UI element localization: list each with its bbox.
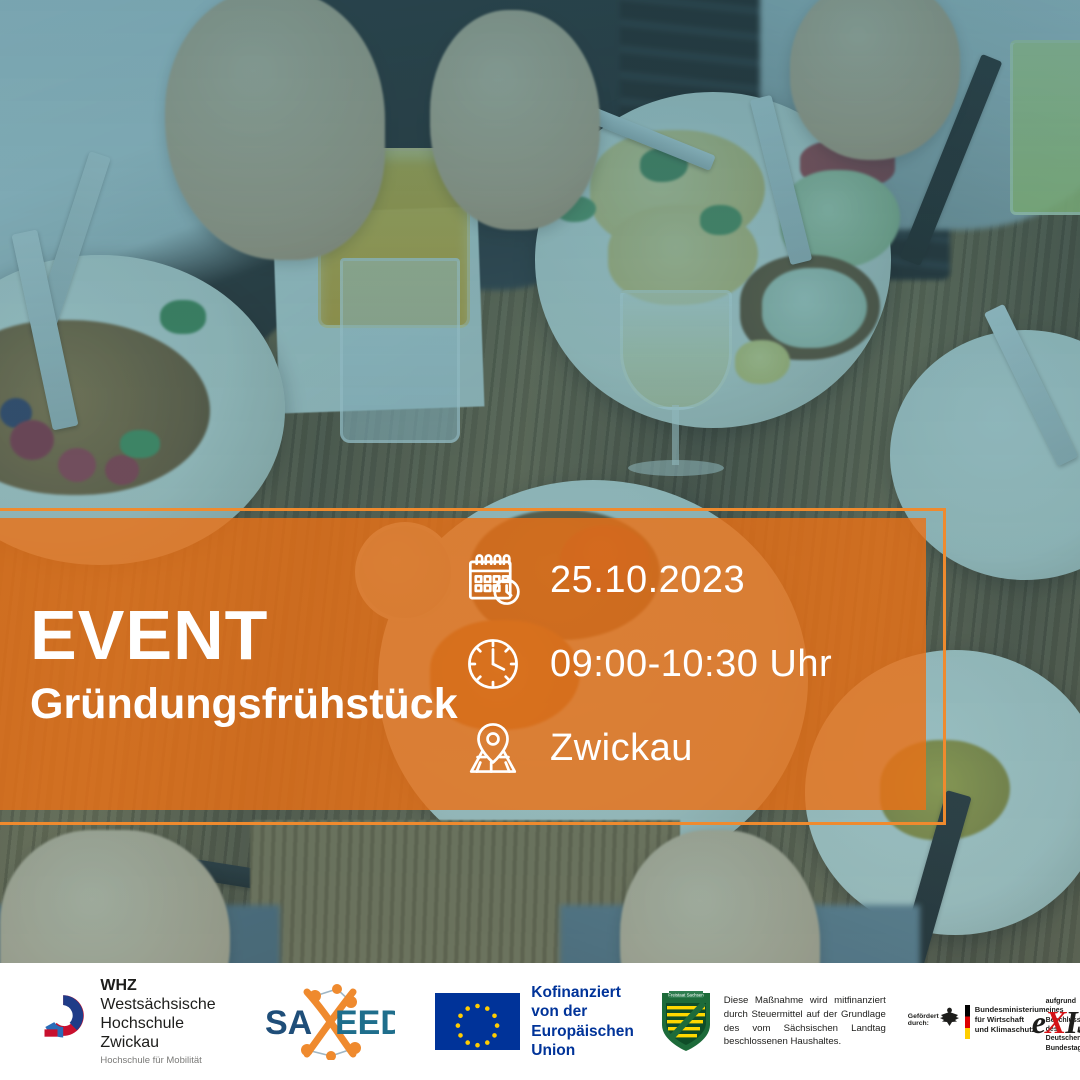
exist-letters-ist: IST — [1065, 1004, 1080, 1040]
logo-freistaat-sachsen: Freistaat Sachsen Diese Maßnahme wird mi… — [660, 991, 886, 1053]
clock-icon — [462, 633, 524, 695]
sachsen-funding-text: Diese Maßnahme wird mitfinanziert durch … — [724, 994, 886, 1050]
logo-european-union: Kofinanziert von der Europäischen Union — [435, 983, 634, 1061]
event-date-value: 25.10.2023 — [550, 559, 745, 602]
eu-line1: Kofinanziert von der — [531, 984, 621, 1020]
event-time-value: 09:00-10:30 Uhr — [550, 643, 832, 686]
whz-line1: WHZ Westsächsische — [100, 977, 215, 1013]
event-detail-date: 25.10.2023 — [462, 549, 936, 611]
saxeed-text-sa: SA — [265, 1004, 312, 1042]
event-poster: EVENT Gründungsfrühstück — [0, 0, 1080, 1080]
eu-flag-icon — [435, 993, 520, 1050]
event-detail-time: 09:00-10:30 Uhr — [462, 633, 936, 695]
event-details-list: 25.10.2023 — [450, 549, 936, 779]
whz-tagline: Hochschule für Mobilität — [100, 1055, 227, 1066]
whz-wordmark: WHZ Westsächsische Hochschule Zwickau Ho… — [100, 977, 227, 1066]
event-headline-block: EVENT Gründungsfrühstück — [0, 600, 450, 727]
sachsen-crest-icon: Freistaat Sachsen — [660, 991, 712, 1053]
exist-letter-e: e — [1032, 1004, 1045, 1040]
event-banner: EVENT Gründungsfrühstück — [0, 518, 936, 810]
whz-line2: Hochschule Zwickau — [100, 1015, 184, 1051]
event-kicker: EVENT — [30, 600, 450, 670]
logo-bmwk: Gefördert durch: Bundesministerium für W… — [908, 990, 1020, 1054]
background-photo — [0, 0, 1080, 963]
logo-saxeed: SA EED — [263, 984, 395, 1060]
logo-whz: WHZ Westsächsische Hochschule Zwickau Ho… — [38, 977, 227, 1066]
eu-line2: Europäischen Union — [531, 1023, 634, 1059]
bmwk-funded-by-label: Gefördert durch: — [908, 1013, 939, 1027]
bmwk-logo-row: Bundesministerium für Wirtschaft und Kli… — [939, 1005, 1046, 1039]
whz-mark-icon — [38, 992, 88, 1050]
saxeed-text-eed: EED — [335, 1004, 395, 1042]
eu-wordmark: Kofinanziert von der Europäischen Union — [531, 983, 634, 1061]
german-flag-bar — [965, 1005, 970, 1039]
federal-eagle-icon — [939, 1005, 960, 1027]
event-title: Gründungsfrühstück — [30, 682, 450, 727]
calendar-clock-icon — [462, 549, 524, 611]
teal-highlight-overlay — [0, 0, 1080, 963]
saxeed-mark-icon: SA EED — [263, 984, 395, 1060]
footer-logo-bar: WHZ Westsächsische Hochschule Zwickau Ho… — [0, 963, 1080, 1080]
event-location-value: Zwickau — [550, 727, 693, 770]
logo-exist: eXIST Existenzgründungen aus der Wissens… — [1032, 1003, 1080, 1040]
event-detail-location: Zwickau — [462, 717, 936, 779]
sachsen-crest-label: Freistaat Sachsen — [668, 992, 704, 997]
exist-wordmark: eXIST — [1032, 1006, 1080, 1038]
exist-letter-x: X — [1045, 1004, 1065, 1040]
map-pin-icon — [462, 717, 524, 779]
